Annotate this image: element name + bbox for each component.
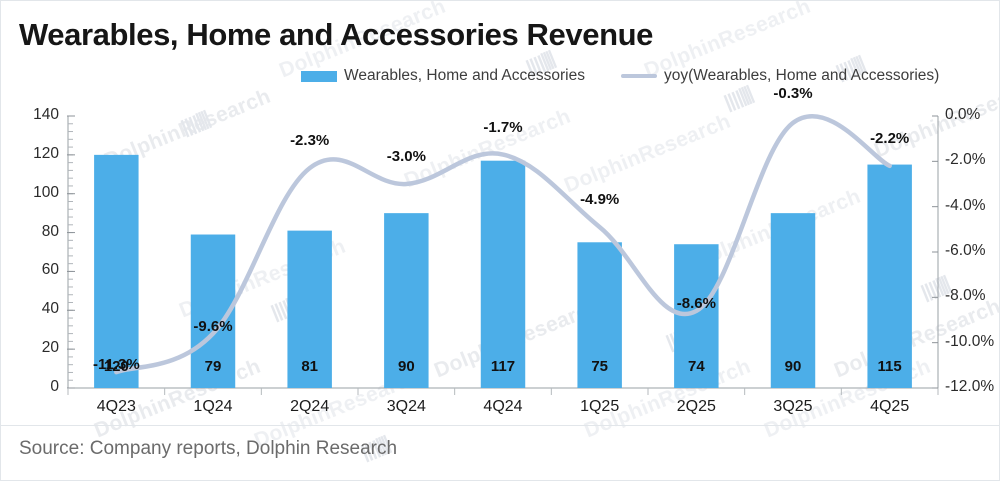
y-left-tick-140: 140 <box>13 106 59 124</box>
x-category-4Q23: 4Q23 <box>66 398 166 416</box>
bar-swatch-icon <box>301 71 337 82</box>
source-text: Source: Company reports, Dolphin Researc… <box>19 438 397 460</box>
x-category-1Q25: 1Q25 <box>550 398 650 416</box>
bar-value-1Q25: 75 <box>550 358 650 375</box>
bar-4Q25[interactable] <box>867 165 911 388</box>
bar-4Q23[interactable] <box>94 155 138 388</box>
x-category-3Q24: 3Q24 <box>356 398 456 416</box>
yoy-value-3Q25: -0.3% <box>743 85 843 102</box>
yoy-value-2Q24: -2.3% <box>260 132 360 149</box>
yoy-value-3Q24: -3.0% <box>356 148 456 165</box>
y-right-tick--10.0%: -10.0% <box>945 333 1000 351</box>
y-left-tick-120: 120 <box>13 145 59 163</box>
bar-value-4Q25: 115 <box>840 358 940 375</box>
y-left-tick-80: 80 <box>13 223 59 241</box>
legend-label-bars: Wearables, Home and Accessories <box>344 67 585 85</box>
y-right-tick--6.0%: -6.0% <box>945 242 1000 260</box>
x-category-4Q24: 4Q24 <box>453 398 553 416</box>
x-category-2Q25: 2Q25 <box>646 398 746 416</box>
yoy-value-1Q24: -9.6% <box>163 318 263 335</box>
bar-value-4Q24: 117 <box>453 358 553 375</box>
y-left-tick-20: 20 <box>13 339 59 357</box>
y-left-tick-100: 100 <box>13 184 59 202</box>
bar-value-3Q25: 90 <box>743 358 843 375</box>
yoy-value-4Q23: -11.3% <box>66 356 166 373</box>
legend-label-line: yoy(Wearables, Home and Accessories) <box>664 67 939 85</box>
legend-item-line[interactable]: yoy(Wearables, Home and Accessories) <box>621 67 939 85</box>
bar-value-3Q24: 90 <box>356 358 456 375</box>
x-category-1Q24: 1Q24 <box>163 398 263 416</box>
chart-card: DolphinResearchDolphinResearchDolphinRes… <box>0 0 1000 481</box>
y-right-tick-0.0%: 0.0% <box>945 106 1000 124</box>
y-left-tick-0: 0 <box>13 378 59 396</box>
y-left-tick-60: 60 <box>13 261 59 279</box>
bar-value-2Q25: 74 <box>646 358 746 375</box>
legend-item-bars[interactable]: Wearables, Home and Accessories <box>301 67 585 85</box>
bar-4Q24[interactable] <box>481 161 525 388</box>
x-category-2Q24: 2Q24 <box>260 398 360 416</box>
y-right-tick--12.0%: -12.0% <box>945 378 1000 396</box>
source-bar: Source: Company reports, Dolphin Researc… <box>1 425 999 480</box>
y-right-tick--8.0%: -8.0% <box>945 287 1000 305</box>
yoy-value-4Q25: -2.2% <box>840 130 940 147</box>
line-swatch-icon <box>621 74 657 78</box>
bar-value-2Q24: 81 <box>260 358 360 375</box>
page-title: Wearables, Home and Accessories Revenue <box>19 17 653 53</box>
chart-legend: Wearables, Home and Accessories yoy(Wear… <box>301 67 939 85</box>
yoy-value-4Q24: -1.7% <box>453 119 553 136</box>
y-right-tick--4.0%: -4.0% <box>945 197 1000 215</box>
yoy-value-1Q25: -4.9% <box>550 191 650 208</box>
yoy-value-2Q25: -8.6% <box>646 295 746 312</box>
bar-value-1Q24: 79 <box>163 358 263 375</box>
x-category-4Q25: 4Q25 <box>840 398 940 416</box>
y-left-tick-40: 40 <box>13 300 59 318</box>
x-category-3Q25: 3Q25 <box>743 398 843 416</box>
y-right-tick--2.0%: -2.0% <box>945 151 1000 169</box>
